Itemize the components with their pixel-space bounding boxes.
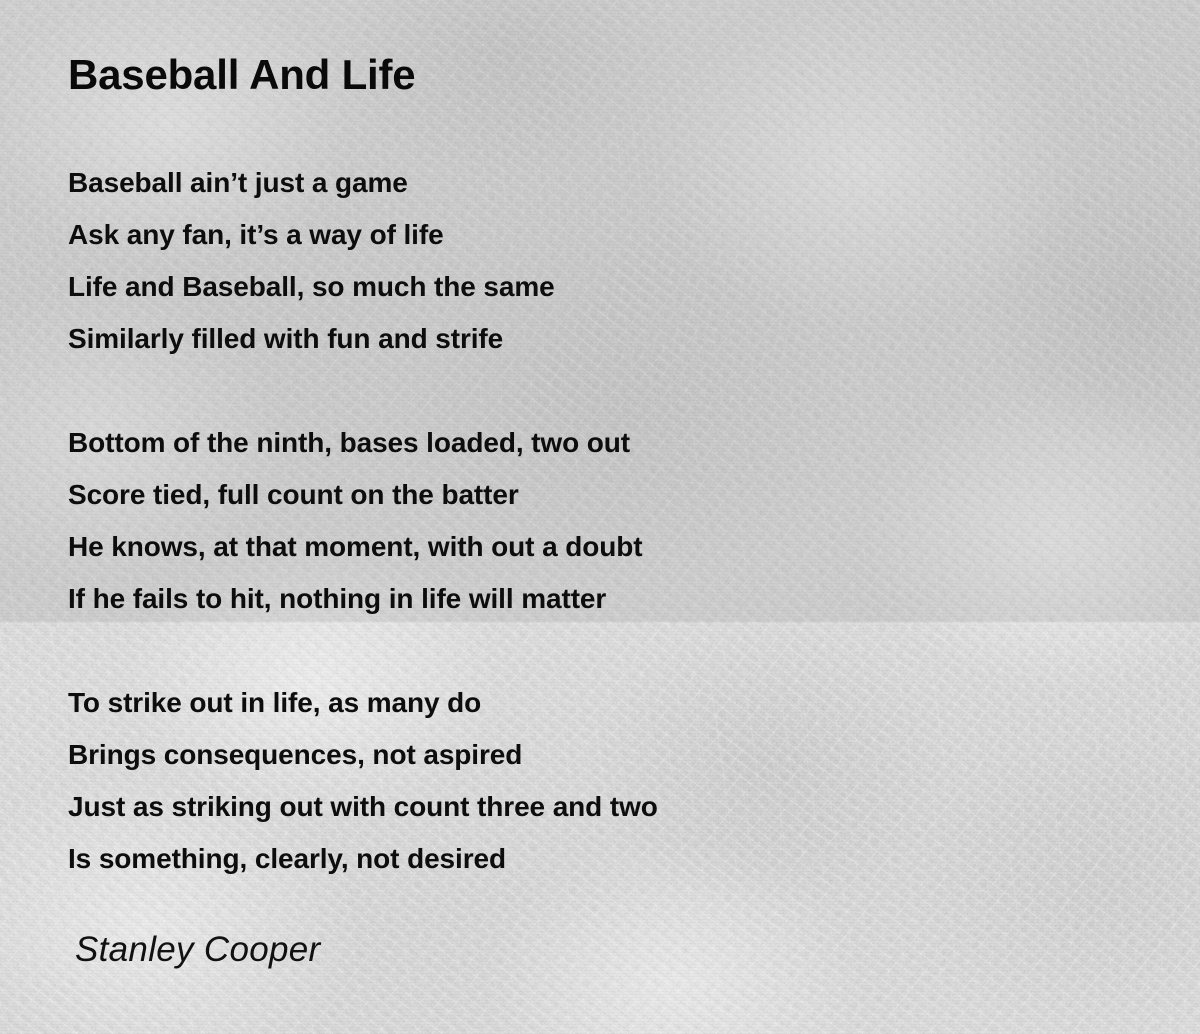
- poem-line: Similarly filled with fun and strife: [68, 313, 1128, 365]
- poem-line: If he fails to hit, nothing in life will…: [68, 573, 1128, 625]
- poem-image-canvas: Baseball And Life Baseball ain’t just a …: [0, 0, 1200, 1034]
- stanza-3: To strike out in life, as many do Brings…: [68, 677, 1128, 885]
- poem-line: Life and Baseball, so much the same: [68, 261, 1128, 313]
- poem-line: Baseball ain’t just a game: [68, 157, 1128, 209]
- stanza-1: Baseball ain’t just a game Ask any fan, …: [68, 157, 1128, 365]
- author-signature: Stanley Cooper: [75, 930, 320, 970]
- poem-line: Score tied, full count on the batter: [68, 469, 1128, 521]
- poem-body: Baseball ain’t just a game Ask any fan, …: [68, 157, 1128, 937]
- poem-line: To strike out in life, as many do: [68, 677, 1128, 729]
- poem-line: Is something, clearly, not desired: [68, 833, 1128, 885]
- poem-line: Bottom of the ninth, bases loaded, two o…: [68, 417, 1128, 469]
- poem-line: He knows, at that moment, with out a dou…: [68, 521, 1128, 573]
- stanza-2: Bottom of the ninth, bases loaded, two o…: [68, 417, 1128, 625]
- poem-line: Ask any fan, it’s a way of life: [68, 209, 1128, 261]
- poem-line: Just as striking out with count three an…: [68, 781, 1128, 833]
- poem-content: Baseball And Life Baseball ain’t just a …: [0, 0, 1200, 1034]
- page-title: Baseball And Life: [68, 52, 415, 98]
- poem-line: Brings consequences, not aspired: [68, 729, 1128, 781]
